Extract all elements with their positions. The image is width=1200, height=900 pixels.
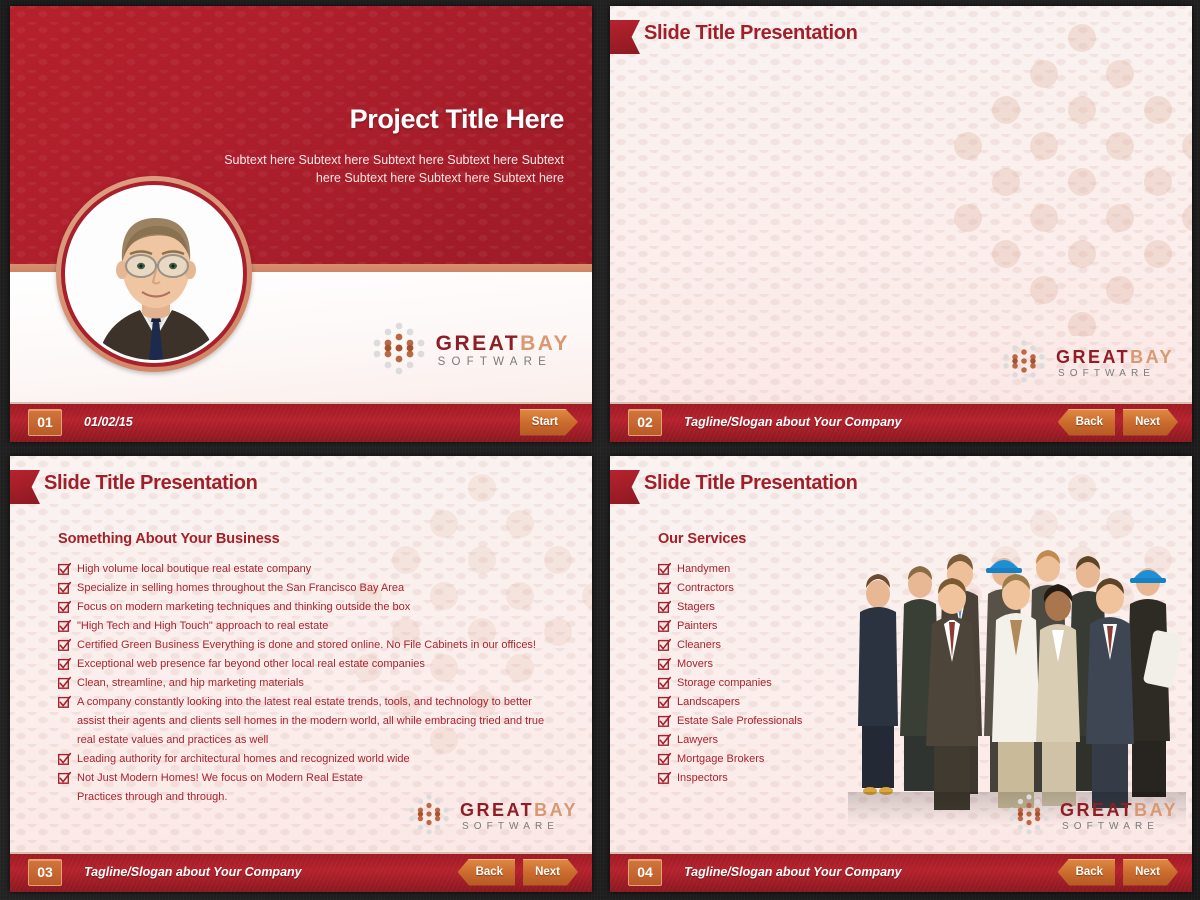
logo-word-software: SOFTWARE (438, 357, 570, 369)
list-item: A company constantly looking into the la… (58, 693, 544, 750)
page-number-badge: 01 (28, 409, 62, 436)
logo-word-bay: BAY (1134, 800, 1178, 820)
footer-buttons: Start (520, 409, 578, 436)
slide-cell-1: Project Title Here Subtext here Subtext … (0, 0, 600, 450)
checkmark-icon (58, 639, 69, 650)
diamond-dots-logo-icon (408, 793, 450, 840)
back-button[interactable]: Back (1058, 859, 1116, 886)
logo-word-great: GREAT (460, 800, 534, 820)
list-item-label: Cleaners (677, 636, 721, 655)
footer-tagline: Tagline/Slogan about Your Company (684, 865, 902, 879)
list-item: Certified Green Business Everything is d… (58, 636, 544, 655)
slide-4-footer: 04 Tagline/Slogan about Your Company Bac… (610, 852, 1192, 892)
list-item: Specialize in selling homes throughout t… (58, 579, 544, 598)
list-item-label: Contractors (677, 579, 734, 598)
brand-logo-text: GREATBAY SOFTWARE (460, 801, 578, 832)
list-item: Landscapers (658, 693, 802, 712)
page-number-badge: 04 (628, 859, 662, 886)
start-button[interactable]: Start (520, 409, 578, 436)
brand-logo: GREATBAY SOFTWARE (1002, 339, 1174, 388)
list-item-label: A company constantly looking into the la… (77, 693, 544, 750)
list-item-label: Specialize in selling homes throughout t… (77, 579, 404, 598)
slide-deck-grid: Project Title Here Subtext here Subtext … (0, 0, 1200, 900)
list-item: Painters (658, 617, 802, 636)
list-item-label: High volume local boutique real estate c… (77, 560, 311, 579)
slide-cell-4: Slide Title Presentation Our Services Ha… (600, 450, 1200, 900)
list-item-label: "High Tech and High Touch" approach to r… (77, 617, 328, 636)
checkmark-icon (58, 658, 69, 669)
checkmark-icon (658, 696, 669, 707)
footer-tagline: Tagline/Slogan about Your Company (684, 415, 902, 429)
checkmark-icon (658, 734, 669, 745)
page-number-badge: 03 (28, 859, 62, 886)
avatar-photo (68, 188, 240, 360)
list-item-label: Handymen (677, 560, 730, 579)
business-team-photo (848, 536, 1186, 826)
diamond-dots-logo-icon (1008, 793, 1050, 840)
next-button[interactable]: Next (1123, 409, 1178, 436)
slide-title: Slide Title Presentation (644, 472, 858, 495)
logo-word-great: GREAT (1060, 800, 1134, 820)
list-item-label: Clean, streamline, and hip marketing mat… (77, 674, 304, 693)
footer-date: 01/02/15 (84, 415, 133, 429)
list-item-label: Certified Green Business Everything is d… (77, 636, 536, 655)
list-item-label: Inspectors (677, 769, 728, 788)
list-item-label: Not Just Modern Homes! We focus on Moder… (77, 769, 363, 807)
list-item: Contractors (658, 579, 802, 598)
back-button[interactable]: Back (1058, 409, 1116, 436)
diamond-dots-logo-icon (372, 321, 426, 380)
list-item: High volume local boutique real estate c… (58, 560, 544, 579)
checkmark-icon (58, 677, 69, 688)
checkmark-icon (58, 696, 69, 707)
list-item: Leading authority for architectural home… (58, 750, 544, 769)
list-item-label: Movers (677, 655, 713, 674)
slide-title: Slide Title Presentation (644, 22, 858, 45)
list-item: Lawyers (658, 731, 802, 750)
slide-1-footer: 01 01/02/15 Start (10, 402, 592, 442)
checkmark-icon (658, 639, 669, 650)
slide-cell-2: Slide Title Presentation (600, 0, 1200, 450)
list-item: Estate Sale Professionals (658, 712, 802, 731)
list-item-label: Focus on modern marketing techniques and… (77, 598, 410, 617)
footer-buttons: Back Next (1058, 409, 1178, 436)
footer-buttons: Back Next (458, 859, 578, 886)
portrait-illustration (68, 188, 240, 360)
checkmark-icon (658, 772, 669, 783)
section-heading: Our Services (658, 531, 746, 547)
list-item-label: Stagers (677, 598, 715, 617)
slide-4-services[interactable]: Slide Title Presentation Our Services Ha… (610, 456, 1192, 892)
checkmark-icon (658, 677, 669, 688)
section-heading: Something About Your Business (58, 531, 280, 547)
bullet-list: High volume local boutique real estate c… (58, 560, 544, 807)
list-item: Stagers (658, 598, 802, 617)
brand-logo: GREATBAY SOFTWARE (408, 793, 578, 840)
checkmark-icon (658, 582, 669, 593)
slide-2-blank-content[interactable]: Slide Title Presentation (610, 6, 1192, 442)
list-item: Cleaners (658, 636, 802, 655)
page-number-badge: 02 (628, 409, 662, 436)
list-item-label: Exceptional web presence far beyond othe… (77, 655, 425, 674)
bullet-list: HandymenContractorsStagersPaintersCleane… (658, 560, 802, 788)
list-item: Storage companies (658, 674, 802, 693)
list-item: Movers (658, 655, 802, 674)
list-item-label: Painters (677, 617, 717, 636)
checkmark-icon (658, 715, 669, 726)
list-item-label: Estate Sale Professionals (677, 712, 802, 731)
logo-word-bay: BAY (1130, 347, 1174, 367)
brand-logo-text: GREATBAY SOFTWARE (436, 333, 570, 369)
logo-word-software: SOFTWARE (462, 822, 578, 832)
slide-2-footer: 02 Tagline/Slogan about Your Company Bac… (610, 402, 1192, 442)
next-button[interactable]: Next (1123, 859, 1178, 886)
list-item-label: Landscapers (677, 693, 740, 712)
list-item: Clean, streamline, and hip marketing mat… (58, 674, 544, 693)
footer-buttons: Back Next (1058, 859, 1178, 886)
list-item-label: Mortgage Brokers (677, 750, 764, 769)
brand-logo: GREATBAY SOFTWARE (1008, 793, 1178, 840)
checkmark-icon (58, 772, 69, 783)
checkmark-icon (658, 620, 669, 631)
brand-logo-text: GREATBAY SOFTWARE (1056, 348, 1174, 379)
list-item: "High Tech and High Touch" approach to r… (58, 617, 544, 636)
checkmark-icon (58, 753, 69, 764)
page-title: Project Title Here (350, 104, 564, 135)
slide-3-business-bullets[interactable]: Slide Title Presentation Something About… (10, 456, 592, 892)
logo-word-bay: BAY (534, 800, 578, 820)
logo-word-software: SOFTWARE (1058, 369, 1174, 379)
checkmark-icon (58, 563, 69, 574)
slide-1-title[interactable]: Project Title Here Subtext here Subtext … (10, 6, 592, 442)
next-button[interactable]: Next (523, 859, 578, 886)
slide-title: Slide Title Presentation (44, 472, 258, 495)
checkmark-icon (658, 601, 669, 612)
back-button[interactable]: Back (458, 859, 516, 886)
checkmark-icon (58, 601, 69, 612)
logo-word-great: GREAT (436, 332, 520, 355)
subtitle-text: Subtext here Subtext here Subtext here S… (214, 151, 564, 187)
brand-logo: GREATBAY SOFTWARE (372, 321, 570, 380)
checkmark-icon (658, 658, 669, 669)
avatar (56, 176, 252, 372)
list-item: Focus on modern marketing techniques and… (58, 598, 544, 617)
checkmark-icon (58, 582, 69, 593)
logo-word-great: GREAT (1056, 347, 1130, 367)
footer-tagline: Tagline/Slogan about Your Company (84, 865, 302, 879)
logo-word-bay: BAY (520, 332, 570, 355)
avatar-ring (61, 181, 247, 367)
list-item-label: Leading authority for architectural home… (77, 750, 410, 769)
slide-3-footer: 03 Tagline/Slogan about Your Company Bac… (10, 852, 592, 892)
logo-word-software: SOFTWARE (1062, 822, 1178, 832)
checkmark-icon (658, 563, 669, 574)
list-item-label: Storage companies (677, 674, 772, 693)
list-item-label: Lawyers (677, 731, 718, 750)
list-item: Inspectors (658, 769, 802, 788)
list-item: Exceptional web presence far beyond othe… (58, 655, 544, 674)
diamond-dots-logo-icon (1002, 339, 1046, 388)
list-item: Handymen (658, 560, 802, 579)
checkmark-icon (58, 620, 69, 631)
brand-logo-text: GREATBAY SOFTWARE (1060, 801, 1178, 832)
list-item: Mortgage Brokers (658, 750, 802, 769)
checkmark-icon (658, 753, 669, 764)
slide-cell-3: Slide Title Presentation Something About… (0, 450, 600, 900)
